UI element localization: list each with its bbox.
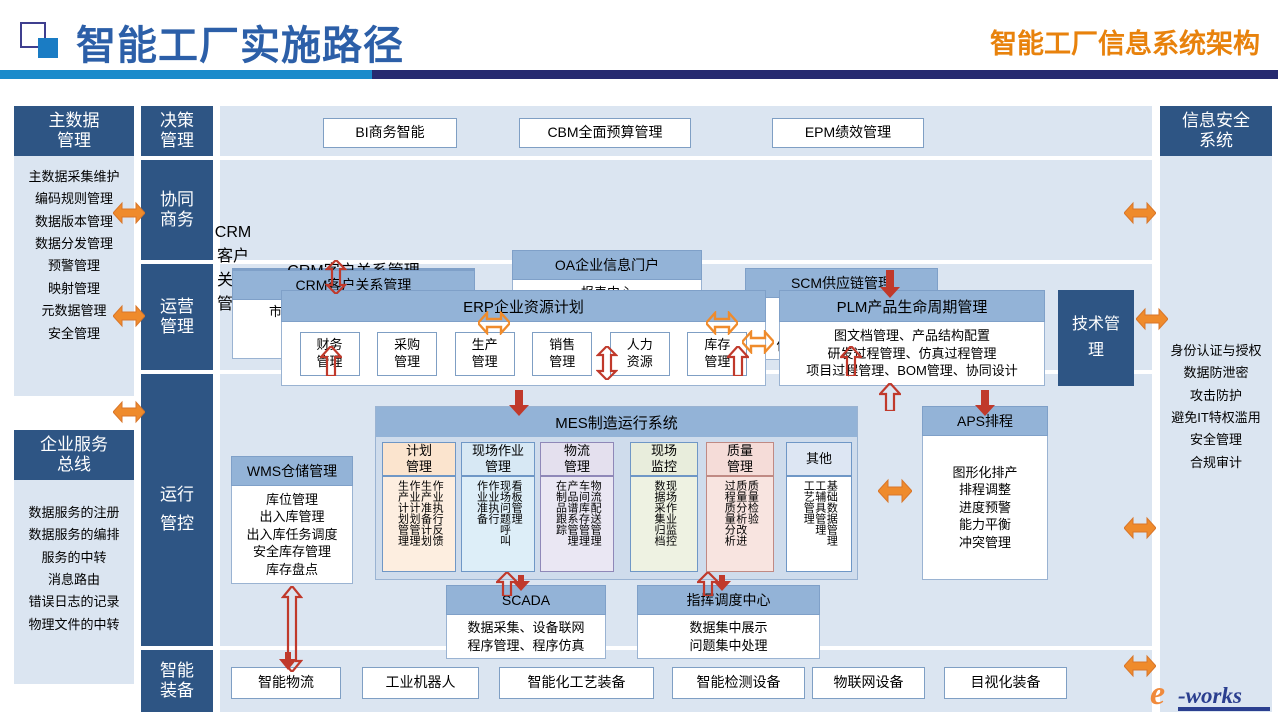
mes-item: 质量检验	[746, 480, 758, 524]
layer-label-line1: 决策	[160, 111, 194, 131]
arrow-security-collab	[1124, 200, 1156, 226]
wms-card-body: 库位管理 出入库管理 出入库任务调度 安全库存管理 库存盘点	[231, 486, 353, 584]
arrow-mes-down	[508, 390, 530, 416]
layer-label-line2: 管理	[160, 317, 194, 337]
arrow-masterdata-collab	[113, 200, 145, 226]
mes-col-head-line1: 现场	[651, 443, 677, 459]
plm-line: 图文档管理、产品结构配置	[834, 327, 990, 345]
tech-line1: 技术管	[1072, 312, 1120, 338]
arrow-plm-down	[879, 270, 901, 298]
mes-item: 作业准备	[475, 480, 487, 524]
mes-item: 生产准备计划	[419, 480, 431, 546]
arrow-scada-down	[510, 575, 532, 591]
list-item: 安全管理	[1190, 429, 1242, 451]
eworks-logo-bar	[1178, 707, 1270, 711]
mes-item: 在制品跟踪	[554, 480, 566, 535]
equipment-box-robot[interactable]: 工业机器人	[362, 667, 479, 699]
mes-item: 产品谱系管理	[565, 480, 577, 546]
arrow-up-scm	[727, 346, 749, 376]
mes-col-head-shopfloor[interactable]: 现场作业 管理	[461, 442, 535, 476]
layer-equipment[interactable]: 智能 装备	[141, 650, 213, 712]
arrow-oa-scm	[706, 311, 738, 335]
list-item: 攻击防护	[1190, 385, 1242, 407]
erp-module-line2: 管理	[472, 354, 498, 370]
layer-operation[interactable]: 运营 管理	[141, 264, 213, 370]
layer-collaboration[interactable]: 协同 商务	[141, 160, 213, 260]
arrow-erp-vertical	[325, 260, 347, 294]
plm-card-header[interactable]: PLM产品生命周期管理	[779, 290, 1045, 322]
list-item: 身份认证与授权	[1170, 340, 1261, 362]
erp-module-line1: 生产	[472, 337, 498, 353]
list-item: 消息路由	[48, 569, 100, 591]
logo-solid-square	[38, 38, 58, 58]
arrow-command-down	[711, 575, 733, 591]
erp-module-sales[interactable]: 销售 管理	[532, 332, 592, 376]
esb-title-line1: 企业服务	[40, 435, 108, 455]
wms-card-header[interactable]: WMS仓储管理	[231, 456, 353, 486]
page-title: 智能工厂实施路径	[76, 13, 404, 71]
master-data-list: 主数据采集维护 编码规则管理 数据版本管理 数据分发管理 预警管理 映射管理 元…	[14, 156, 134, 396]
square-logo-icon	[20, 22, 60, 58]
erp-module-line1: 销售	[549, 337, 575, 353]
erp-module-line1: 人力	[627, 337, 653, 353]
mes-item: 车间库存管理	[577, 480, 589, 546]
wms-line: 出入库管理	[259, 508, 324, 526]
list-item: 数据版本管理	[35, 211, 113, 233]
mes-item: 作业执行反馈	[431, 480, 443, 546]
tech-management-box[interactable]: 技术管 理	[1058, 290, 1134, 386]
command-line: 问题集中处理	[689, 637, 767, 655]
arrow-security-operation	[1136, 306, 1168, 332]
mes-col-head-line1: 质量	[727, 443, 753, 459]
list-item: 数据分发管理	[35, 233, 113, 255]
mes-item: 质量分析改进	[734, 480, 746, 546]
esb-title: 企业服务 总线	[14, 430, 134, 480]
mes-item: 看板管理	[510, 480, 522, 524]
arrow-mes-aps	[878, 478, 912, 504]
list-item: 数据服务的注册	[28, 502, 119, 524]
arrow-aps-down	[974, 390, 996, 416]
layer-label-line2: 商务	[160, 210, 194, 230]
eworks-logo-e: e	[1150, 675, 1165, 713]
list-item: 主数据采集维护	[28, 166, 119, 188]
plm-line: 项目过程管理、BOM管理、协同设计	[806, 362, 1018, 380]
equipment-box-iot[interactable]: 物联网设备	[812, 667, 925, 699]
list-item: 编码规则管理	[35, 188, 113, 210]
layer-control[interactable]: 运行 管控	[141, 374, 213, 646]
security-title-line1: 信息安全	[1182, 111, 1250, 131]
aps-line: 能力平衡	[959, 516, 1011, 534]
mes-item: 数据采集归档	[652, 480, 664, 546]
aps-line: 冲突管理	[959, 534, 1011, 552]
erp-card-body: 财务 管理 采购 管理 生产 管理 销售 管理 人力 资源	[281, 322, 766, 386]
mes-col-head-line2: 管理	[472, 459, 524, 475]
list-item: 数据防泄密	[1183, 362, 1248, 384]
layer-decision[interactable]: 决策 管理	[141, 106, 213, 156]
erp-module-procurement[interactable]: 采购 管理	[377, 332, 437, 376]
list-item: 数据服务的编排	[28, 524, 119, 546]
arrow-crm-oa	[478, 311, 510, 335]
eworks-logo-works: -works	[1178, 683, 1242, 709]
erp-module-line2: 管理	[549, 354, 575, 370]
mes-item: 过程质量分析	[723, 480, 735, 546]
layer-label-line2: 管控	[160, 510, 194, 539]
wms-line: 安全库存管理	[253, 543, 331, 561]
mes-col-body-shopfloor: 看板管理 现场问题呼叫 作业执行 作业准备	[461, 476, 535, 572]
mes-col-body-monitoring: 现场作业监控 数据采集归档	[630, 476, 698, 572]
page-header: 智能工厂实施路径 智能工厂信息系统架构	[0, 0, 1278, 78]
aps-line: 进度预警	[959, 499, 1011, 517]
diagram-canvas: 主数据 管理 主数据采集维护 编码规则管理 数据版本管理 数据分发管理 预警管理…	[0, 78, 1278, 719]
erp-module-production[interactable]: 生产 管理	[455, 332, 515, 376]
arrow-masterdata-control	[113, 399, 145, 425]
list-item: 避免IT特权滥用	[1171, 407, 1261, 429]
mes-item: 物流配送管理	[589, 480, 601, 546]
mes-col-head-line1: 现场作业	[472, 443, 524, 459]
mes-item: 基础数据管理	[825, 480, 837, 546]
mes-item: 作业执行	[486, 480, 498, 524]
esb-title-line2: 总线	[40, 455, 108, 475]
mes-col-head-line2: 监控	[651, 459, 677, 475]
command-line: 数据集中展示	[689, 619, 767, 637]
mes-item: 生产计划管理	[396, 480, 408, 546]
wms-line: 库存盘点	[266, 561, 318, 579]
mes-col-body-quality: 质量检验 质量分析改进 过程质量分析	[706, 476, 774, 572]
list-item: 预警管理	[48, 255, 100, 277]
layer-label-line1: 运营	[160, 297, 194, 317]
mes-col-body-other: 基础数据管理 工辅具管理 工艺管理	[786, 476, 852, 572]
mes-col-head-quality[interactable]: 质量 管理	[706, 442, 774, 476]
mes-col-head-line2: 管理	[564, 459, 590, 475]
mes-col-head-plan[interactable]: 计划 管理	[382, 442, 456, 476]
mes-col-head-line2: 管理	[727, 459, 753, 475]
oa-card-header[interactable]: OA企业信息门户	[512, 250, 702, 280]
erp-module-line2: 管理	[394, 354, 420, 370]
list-item: 映射管理	[48, 278, 100, 300]
wms-line: 出入库任务调度	[246, 526, 337, 544]
layer-label-line1: 运行	[160, 481, 194, 510]
layer-label-line2: 管理	[160, 131, 194, 151]
layer-label-line2: 装备	[160, 681, 194, 701]
box-cbm[interactable]: CBM全面预算管理	[519, 118, 691, 148]
plm-card-body: 图文档管理、产品结构配置 研发过程管理、仿真过程管理 项目过程管理、BOM管理、…	[779, 322, 1045, 386]
arrow-logistics-down	[277, 652, 299, 670]
list-item: 物理文件的中转	[28, 614, 119, 636]
mes-col-head-line1: 计划	[406, 443, 432, 459]
mes-card-header[interactable]: MES制造运行系统	[376, 407, 857, 437]
scada-line: 程序管理、程序仿真	[467, 637, 584, 655]
mes-item: 工艺管理	[802, 480, 814, 524]
layer-label-line1: 协同	[160, 190, 194, 210]
master-data-title: 主数据 管理	[14, 106, 134, 156]
arrow-oa-vertical	[596, 346, 618, 380]
arrow-plm-up-bottom	[879, 383, 901, 411]
equipment-box-process[interactable]: 智能化工艺装备	[499, 667, 654, 699]
aps-line: 排程调整	[959, 481, 1011, 499]
mes-col-body-plan: 作业执行反馈 生产准备计划 作业计划管理 生产计划管理	[382, 476, 456, 572]
tech-line2: 理	[1072, 338, 1120, 364]
mes-item: 现场作业监控	[664, 480, 676, 546]
wms-line: 库位管理	[266, 491, 318, 509]
erp-card-header[interactable]: ERP企业资源计划	[281, 290, 766, 322]
equipment-box-visual[interactable]: 目视化装备	[944, 667, 1067, 699]
mes-col-head-other[interactable]: 其他	[786, 442, 852, 476]
box-bi[interactable]: BI商务智能	[323, 118, 457, 148]
mes-col-body-logistics: 物流配送管理 车间库存管理 产品谱系管理 在制品跟踪	[540, 476, 614, 572]
aps-card-body: 图形化排产 排程调整 进度预警 能力平衡 冲突管理	[922, 436, 1048, 580]
aps-line: 图形化排产	[952, 464, 1017, 482]
mes-item: 工辅具管理	[813, 480, 825, 535]
band-collaboration	[220, 160, 1152, 260]
mes-col-head-monitoring[interactable]: 现场 监控	[630, 442, 698, 476]
layer-label-line1: 智能	[160, 661, 194, 681]
mes-col-head-line1: 其他	[806, 451, 832, 467]
esb-list: 数据服务的注册 数据服务的编排 服务的中转 消息路由 错误日志的记录 物理文件的…	[14, 480, 134, 684]
command-card-body: 数据集中展示 问题集中处理	[637, 615, 820, 659]
list-item: 元数据管理	[41, 300, 106, 322]
arrow-up-plm-left	[840, 346, 862, 376]
list-item: 安全管理	[48, 323, 100, 345]
mes-col-head-line2: 管理	[406, 459, 432, 475]
list-item: 错误日志的记录	[28, 591, 119, 613]
mes-col-head-logistics[interactable]: 物流 管理	[540, 442, 614, 476]
eworks-logo: e -works	[1148, 673, 1270, 715]
mes-col-head-line1: 物流	[564, 443, 590, 459]
scada-line: 数据采集、设备联网	[467, 619, 584, 637]
security-title-line2: 系统	[1182, 131, 1250, 151]
list-item: 服务的中转	[41, 547, 106, 569]
arrow-security-control	[1124, 515, 1156, 541]
mes-item: 作业计划管理	[407, 480, 419, 546]
page-subtitle: 智能工厂信息系统架构	[990, 22, 1260, 61]
arrow-masterdata-operation	[113, 303, 145, 329]
mes-item: 现场问题呼叫	[498, 480, 510, 546]
box-epm[interactable]: EPM绩效管理	[772, 118, 924, 148]
list-item: 合规审计	[1190, 452, 1242, 474]
master-data-title-line2: 管理	[49, 131, 100, 151]
master-data-title-line1: 主数据	[49, 111, 100, 131]
equipment-box-inspection[interactable]: 智能检测设备	[672, 667, 805, 699]
security-list: 身份认证与授权 数据防泄密 攻击防护 避免IT特权滥用 安全管理 合规审计	[1160, 340, 1272, 540]
erp-module-line2: 资源	[627, 354, 653, 370]
scada-card-body: 数据采集、设备联网 程序管理、程序仿真	[446, 615, 606, 659]
erp-module-line1: 采购	[394, 337, 420, 353]
arrow-up-crm	[320, 346, 342, 376]
erp-module-hr[interactable]: 人力 资源	[610, 332, 670, 376]
security-title: 信息安全 系统	[1160, 106, 1272, 156]
